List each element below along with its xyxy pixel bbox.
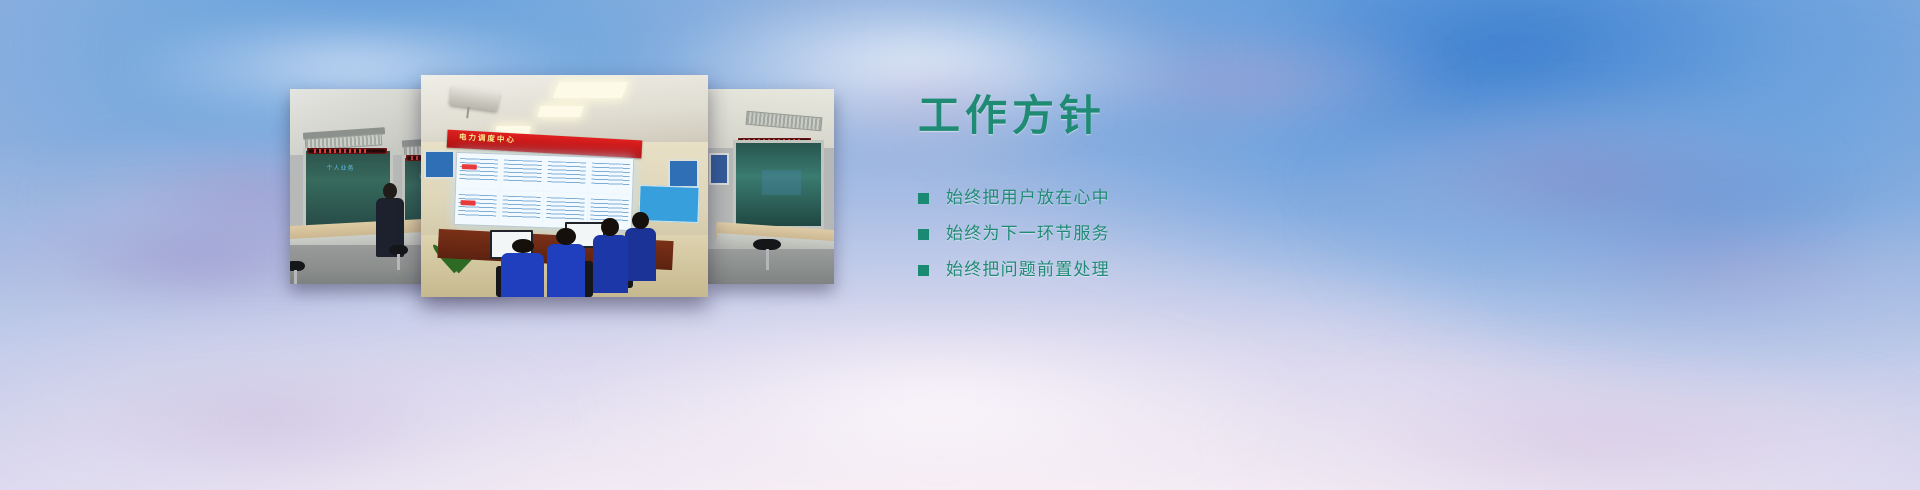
square-bullet-icon: [918, 193, 929, 204]
worker-figure: [625, 228, 657, 281]
page-title: 工作方针: [918, 92, 1438, 139]
wall-monitor: [709, 153, 729, 184]
counter-stool: [753, 239, 781, 270]
photo-scene: [708, 89, 834, 284]
list-item-label: 始终把用户放在心中: [946, 190, 1110, 207]
list-item-label: 始终把问题前置处理: [946, 262, 1110, 279]
glass-partition: [733, 140, 824, 230]
banner-text-block: 工作方针 始终把用户放在心中 始终为下一环节服务 始终把问题前置处理: [918, 92, 1438, 289]
photo-collage: 个人业务 对公业务: [290, 75, 834, 297]
glass-reflection: [762, 170, 801, 195]
policy-list: 始终把用户放在心中 始终为下一环节服务 始终把问题前置处理: [918, 181, 1438, 288]
side-monitor: [424, 150, 456, 179]
counter-stool: [290, 261, 305, 284]
led-scroll-sign: [307, 148, 387, 154]
worker-figure: [501, 253, 544, 297]
collage-photo-glass-partition-service-hall: [708, 89, 834, 284]
list-item: 始终把用户放在心中: [918, 181, 1438, 216]
side-monitor: [668, 159, 700, 188]
photo-scene: 电力调度中心: [421, 75, 708, 297]
red-wall-banner-text: 电力调度中心: [458, 132, 516, 146]
square-bullet-icon: [918, 229, 929, 240]
counter-stool: [389, 245, 408, 270]
ceiling-light: [537, 106, 584, 117]
ceiling-light: [553, 82, 628, 98]
list-item: 始终把问题前置处理: [918, 253, 1438, 288]
list-item-label: 始终为下一环节服务: [946, 226, 1110, 243]
worker-figure: [593, 235, 627, 293]
hero-banner: 个人业务 对公业务: [0, 0, 1920, 490]
worker-figure: [547, 244, 584, 297]
counter-sign-label: 个人业务: [327, 163, 355, 172]
list-item: 始终为下一环节服务: [918, 217, 1438, 252]
square-bullet-icon: [918, 265, 929, 276]
collage-photo-dispatch-control-room: 电力调度中心: [421, 75, 708, 297]
